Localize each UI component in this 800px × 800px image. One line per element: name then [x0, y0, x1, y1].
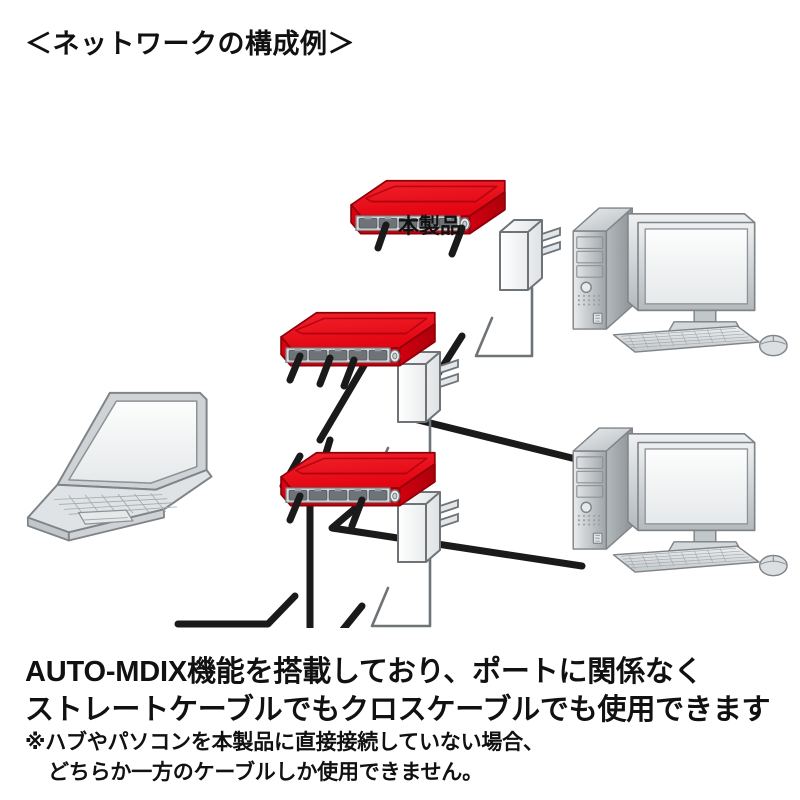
network-diagram-svg — [0, 88, 800, 628]
ac-adapter-bottom — [398, 492, 458, 562]
ac-adapter-top — [500, 220, 560, 290]
note-line-2: どちらか一方のケーブルしか使用できません。 — [48, 756, 483, 786]
cable-bottom-downstream — [312, 606, 362, 628]
ac-adapter-middle — [398, 352, 458, 422]
caption-line-1: AUTO-MDIX機能を搭載しており、ポートに関係なく — [25, 648, 703, 690]
note-line-1: ※ハブやパソコンを本製品に直接接続していない場合、 — [25, 726, 544, 756]
laptop-computer — [28, 393, 212, 541]
desktop-pc-bottom — [573, 428, 787, 576]
power-cord-bottom — [372, 558, 430, 626]
network-switch-middle — [281, 313, 435, 366]
caption-line-2: ストレートケーブルでもクロスケーブルでも使用できます — [25, 686, 770, 728]
page-title: ＜ネットワークの構成例＞ — [25, 22, 355, 61]
network-switch-bottom — [281, 453, 435, 506]
network-diagram-canvas: 本製品 — [0, 88, 800, 628]
product-label-honseihin: 本製品 — [398, 210, 461, 240]
power-cord-top — [476, 288, 532, 356]
cable-bottom-to-laptop — [178, 596, 295, 624]
desktop-pc-top — [573, 208, 787, 356]
diagram-page: ＜ネットワークの構成例＞ — [0, 0, 800, 800]
